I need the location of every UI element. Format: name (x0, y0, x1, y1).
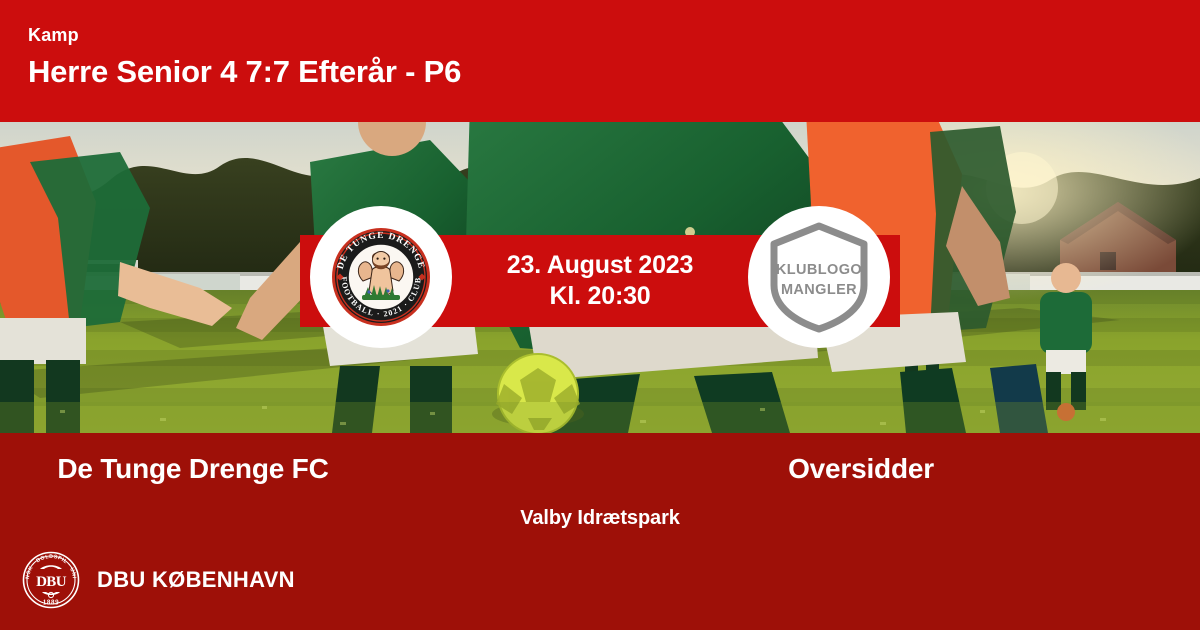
dbu-badge-icon: DANSK · BOLDSPIL · UNION DBU 1889 (22, 551, 80, 609)
page-title: Herre Senior 4 7:7 Efterår - P6 (28, 52, 1200, 92)
de-tunge-drenge-crest-icon: DE TUNGE DRENGE FOOTBALL · 2021 · CLUB (331, 227, 431, 327)
organisation-name: DBU KØBENHAVN (97, 567, 295, 593)
team-names-row: De Tunge Drenge FC Oversidder (0, 447, 1200, 491)
match-poster: Kamp Herre Senior 4 7:7 Efterår - P6 (0, 0, 1200, 630)
venue-name: Valby Idrætspark (0, 507, 1200, 530)
dbu-monogram: DBU (36, 574, 67, 590)
home-team-logo[interactable]: DE TUNGE DRENGE FOOTBALL · 2021 · CLUB (310, 206, 452, 348)
header-kicker: Kamp (28, 24, 1200, 46)
poster-header: Kamp Herre Senior 4 7:7 Efterår - P6 (0, 0, 1200, 122)
away-logo-line2: MANGLER (781, 282, 857, 298)
footer: DANSK · BOLDSPIL · UNION DBU 1889 DBU KØ… (22, 551, 295, 609)
match-time: Kl. 20:30 (549, 281, 650, 312)
dbu-year: 1889 (43, 598, 59, 606)
away-team-name: Oversidder (600, 447, 1200, 491)
away-team-logo[interactable]: KLUBLOGO MANGLER (748, 206, 890, 348)
match-date: 23. August 2023 (507, 250, 693, 281)
away-logo-line1: KLUBLOGO (776, 262, 862, 278)
missing-club-logo-shield-icon: KLUBLOGO MANGLER (765, 219, 873, 335)
home-team-name: De Tunge Drenge FC (0, 447, 600, 491)
